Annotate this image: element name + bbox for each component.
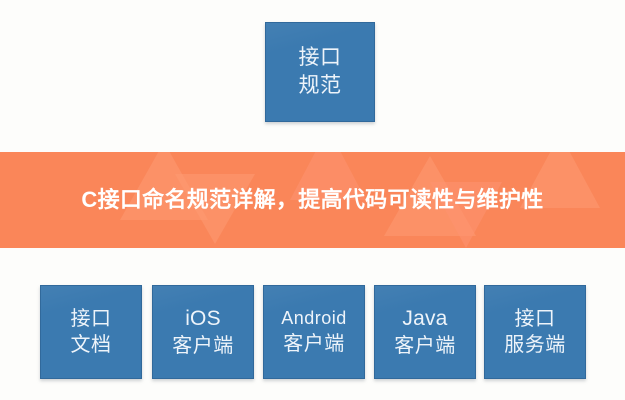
diagram-node-line-1: Java xyxy=(402,306,447,332)
diagram-node-line-1: iOS xyxy=(185,306,221,332)
diagram-node-line-1: Android xyxy=(281,308,347,330)
diagram-node-ios-client[interactable]: iOS 客户端 xyxy=(152,285,254,379)
title-banner: C接口命名规范详解，提高代码可读性与维护性 xyxy=(0,152,625,248)
diagram-node-root[interactable]: 接口 规范 xyxy=(265,22,375,122)
page-root: 接口 规范 C接口命名规范详解，提高代码可读性与维护性 接口 文档 iOS 客户… xyxy=(0,0,625,400)
diagram-node-root-line-1: 接口 xyxy=(299,45,342,71)
diagram-node-line-2: 客户端 xyxy=(283,332,345,356)
diagram-node-line-1: 接口 xyxy=(71,307,112,331)
diagram-node-line-2: 文档 xyxy=(71,333,112,357)
diagram-node-line-1: 接口 xyxy=(515,307,556,331)
diagram-node-line-2: 服务端 xyxy=(504,333,566,357)
diagram-node-interface-server[interactable]: 接口 服务端 xyxy=(484,285,586,379)
diagram-node-java-client[interactable]: Java 客户端 xyxy=(374,285,476,379)
diagram-node-root-line-2: 规范 xyxy=(299,73,342,99)
diagram-node-interface-doc[interactable]: 接口 文档 xyxy=(40,285,142,379)
diagram-node-line-2: 客户端 xyxy=(172,334,234,358)
diagram-node-android-client[interactable]: Android 客户端 xyxy=(263,285,365,379)
diagram-node-line-2: 客户端 xyxy=(394,334,456,358)
banner-title-text: C接口命名规范详解，提高代码可读性与维护性 xyxy=(33,184,593,215)
